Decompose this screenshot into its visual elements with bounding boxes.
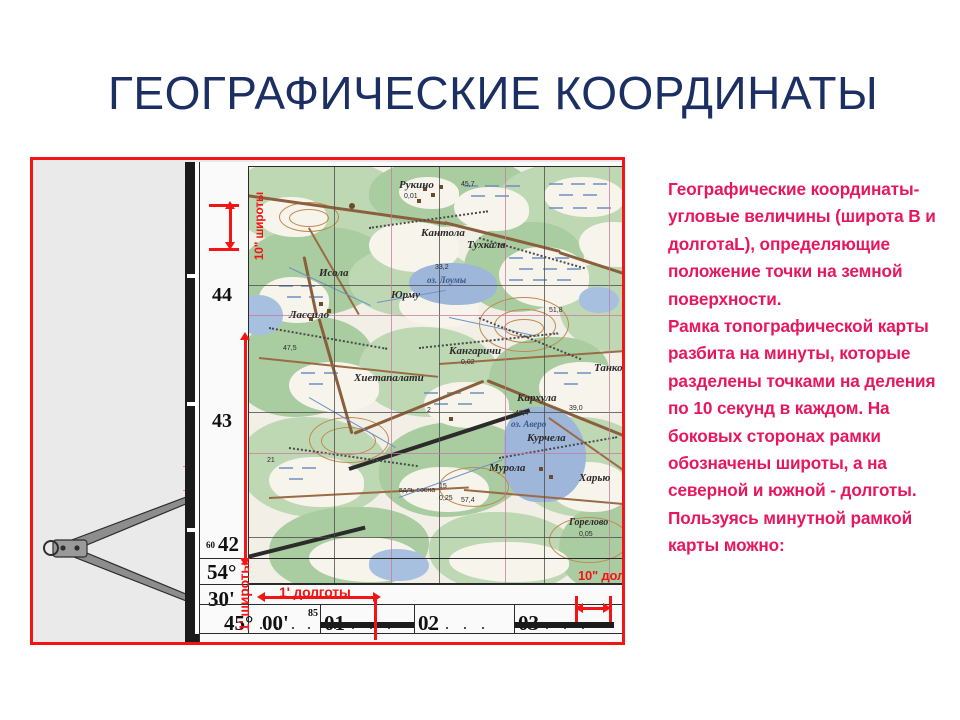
place-label: оз. Аверо [511, 419, 546, 429]
divider-compass-icon [39, 490, 199, 610]
place-label: Хиетапалати [354, 372, 424, 384]
place-label: Кархула [517, 392, 556, 404]
map-terrain-canvas: Рукино 0,01 Кантола Исола Юрму Лассило Т… [249, 167, 625, 584]
annotation-10sec-lat-cap-bottom [209, 248, 239, 251]
place-label: Харью [579, 472, 610, 484]
margin-rule-2 [200, 604, 625, 605]
place-label: Кангаричи [449, 345, 501, 357]
spot-height: 47,5 [283, 345, 297, 352]
latitude-label-43: 43 [212, 410, 232, 433]
spot-height: 51,8 [549, 307, 563, 314]
annotation-1min-lon-tick-right [374, 596, 377, 640]
place-label: Танкоп [594, 362, 625, 374]
place-label: Исола [319, 267, 349, 279]
margin-rule-3 [200, 633, 625, 634]
margin-vrule-3 [414, 604, 415, 634]
annotation-10sec-lon-cap-right [609, 596, 612, 622]
annotation-10sec-lon-cap-left [575, 596, 578, 622]
latitude-label-42-sub: 60 [206, 540, 215, 550]
map-note: 21 [267, 457, 275, 464]
map-note: 0,25 [439, 495, 453, 502]
page-title: ГЕОГРАФИЧЕСКИЕ КООРДИНАТЫ [108, 62, 908, 124]
margin-vrule-2 [320, 604, 321, 634]
margin-rule-0 [200, 558, 625, 559]
map-note: вдль сосна [399, 487, 435, 494]
place-label: Юрму [391, 289, 420, 301]
spot-height: 48,4 [515, 410, 529, 417]
latitude-label-54deg: 54° [207, 560, 236, 585]
place-label: Лассило [289, 309, 329, 321]
margin-rule-1 [200, 584, 625, 585]
place-label: Курчела [527, 432, 566, 444]
spot-height: 2 [427, 407, 431, 414]
annotation-1min-lat-arrow-down [240, 558, 250, 566]
spot-height: 39,0 [569, 405, 583, 412]
spot-height: 33,2 [435, 264, 449, 271]
annotation-1min-lat-arrow-up [240, 332, 250, 340]
place-label: Кантола [421, 227, 465, 239]
annotation-1min-lon-arrow-left [257, 592, 265, 602]
annotation-1min-lat-bar [244, 340, 247, 560]
latitude-label-30min: 30' [208, 587, 235, 612]
map-note: 15 [439, 483, 447, 490]
map-figure: Рукино 0,01 Кантола Исола Юрму Лассило Т… [30, 157, 625, 645]
map-inner-border: Рукино 0,01 Кантола Исола Юрму Лассило Т… [248, 166, 625, 584]
spot-height: 57,4 [461, 497, 475, 504]
spot-height: 45,7 [461, 181, 475, 188]
longitude-label-01-sub: 85 [308, 608, 318, 619]
place-label: Мурола [489, 462, 525, 474]
place-value: 0,05 [579, 531, 593, 538]
body-paragraph-3: Пользуясь минутной рамкой карты можно: [668, 505, 956, 560]
place-label: Рукино [399, 179, 434, 191]
margin-vrule-4 [514, 604, 515, 634]
place-label: Гореловo [569, 517, 608, 528]
annotation-1min-latitude: 1' широты [236, 562, 252, 631]
place-value: 0,01 [404, 193, 418, 200]
body-paragraph-1: Географические координаты- угловые велич… [668, 176, 956, 313]
latitude-label-44: 44 [212, 284, 232, 307]
annotation-1min-lon-bar [265, 596, 377, 599]
annotation-10sec-longitude-value: 10" долготы [578, 568, 625, 583]
latitude-label-42: 42 [218, 532, 239, 557]
place-value: 0,02 [461, 359, 475, 366]
body-paragraph-2: Рамка топографической карты разбита на м… [668, 313, 956, 505]
place-label: оз. Лоумы [427, 275, 466, 285]
annotation-10sec-lat-bar [229, 208, 232, 244]
body-text-block: Географические координаты- угловые велич… [668, 176, 956, 560]
place-label: Тухкала [467, 239, 506, 251]
annotation-10sec-lat-cap-top [209, 204, 239, 207]
annotation-10sec-latitude: 10" широты [252, 192, 266, 260]
